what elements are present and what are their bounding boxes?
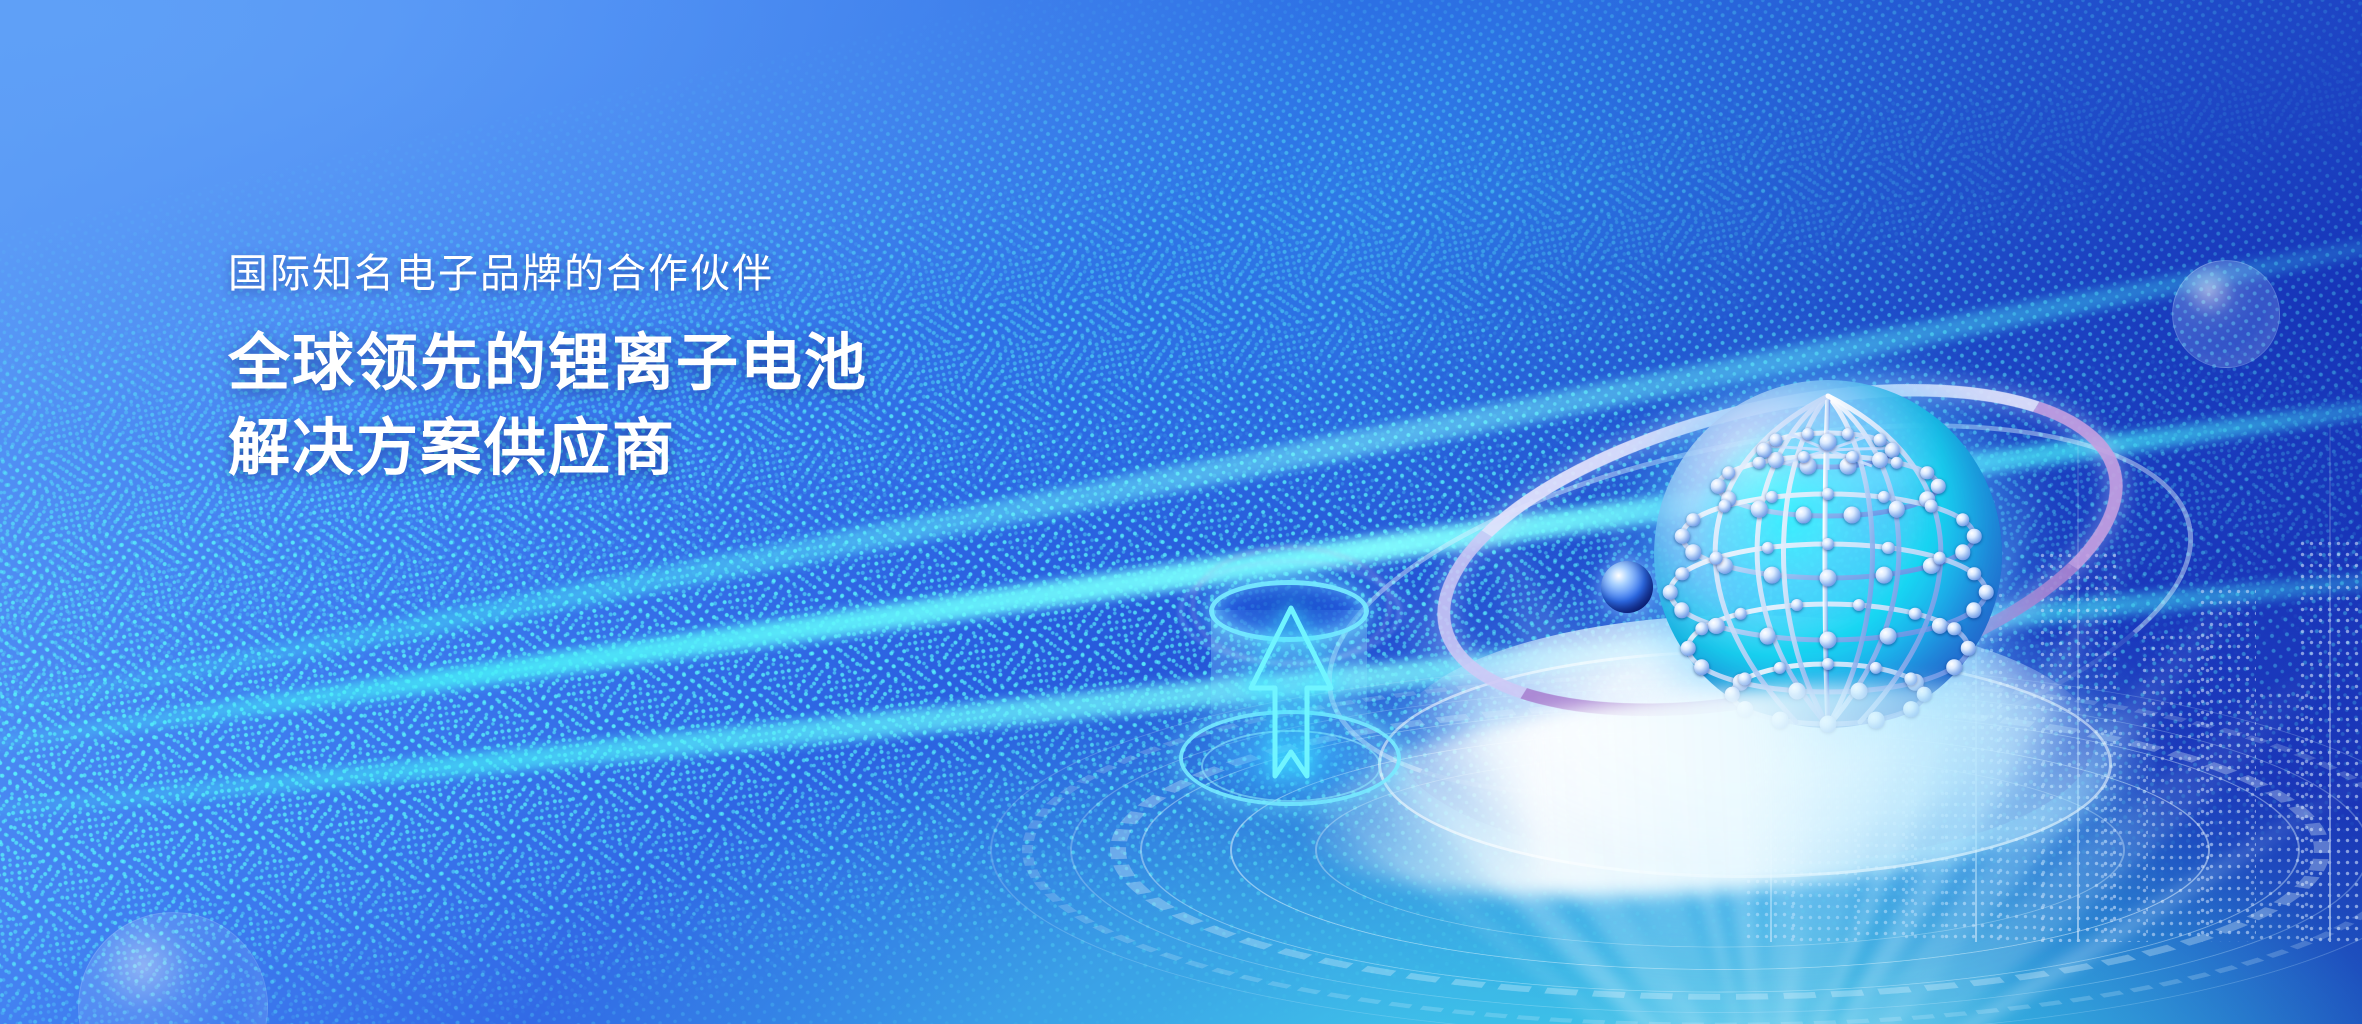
globe-node [1890, 456, 1903, 469]
globe-node [1967, 567, 1981, 581]
globe-node [1711, 479, 1726, 494]
globe-node [1875, 566, 1892, 583]
banner-headline: 全球领先的锂离子电池 解决方案供应商 [228, 321, 868, 492]
globe-node [1764, 566, 1781, 583]
globe-node [1880, 628, 1897, 645]
globe-node [1873, 433, 1886, 446]
orbit-bead-icon [1601, 561, 1653, 613]
globe-node [1675, 567, 1689, 581]
globe-node [1757, 443, 1772, 458]
bubble-icon [2172, 260, 2280, 368]
headline-line-1: 全球领先的锂离子电池 [228, 321, 868, 407]
globe-node [1820, 570, 1837, 587]
globe-node [1718, 500, 1731, 513]
globe-node [1946, 659, 1962, 675]
globe-node [1872, 452, 1888, 468]
globe-node [1822, 488, 1834, 500]
banner-subtitle: 国际知名电子品牌的合作伙伴 [228, 250, 868, 299]
globe-node [1710, 552, 1723, 565]
globe-node [1956, 513, 1970, 527]
globe-node [1694, 659, 1710, 675]
globe-node [1753, 456, 1766, 469]
headline-line-2: 解决方案供应商 [228, 406, 868, 492]
hero-copy: 国际知名电子品牌的合作伙伴 全球领先的锂离子电池 解决方案供应商 [228, 250, 868, 492]
globe-node [1961, 641, 1976, 656]
globe-node [1770, 433, 1783, 446]
hero-banner: 国际知名电子品牌的合作伙伴 全球领先的锂离子电池 解决方案供应商 [0, 0, 2362, 1024]
globe-node [1885, 443, 1900, 458]
globe-node [1979, 585, 1994, 600]
globe-node [1909, 607, 1922, 620]
globe-node [1925, 500, 1938, 513]
globe-node [1681, 641, 1696, 656]
globe-node [1768, 452, 1784, 468]
globe-node [1686, 513, 1700, 527]
globe-node-pole [1820, 434, 1837, 451]
globe-node [1844, 507, 1861, 524]
upward-arrow-icon [1245, 602, 1337, 782]
globe-node [1931, 479, 1946, 494]
globe-node [1822, 658, 1834, 670]
globe-node [1822, 538, 1834, 550]
globe-node [1734, 607, 1747, 620]
globe-node [1795, 507, 1812, 524]
globe-node [1759, 628, 1776, 645]
globe-node [1675, 529, 1690, 544]
globe-node [1820, 632, 1837, 649]
globe-node [1663, 585, 1678, 600]
globe-node [1967, 529, 1982, 544]
upward-arrow-portal [1185, 580, 1435, 830]
globe-node [1933, 552, 1946, 565]
